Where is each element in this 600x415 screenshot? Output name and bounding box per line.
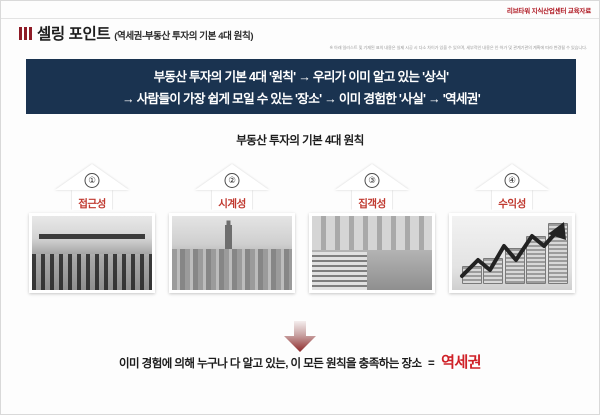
principle-label: 집객성 (358, 196, 385, 211)
principle-column-2: ② 시계성 (169, 164, 295, 293)
city-skyline-photo (169, 213, 295, 293)
conclusion-line: 이미 경험에 의해 누구나 다 알고 있는, 이 모든 원칙을 충족하는 장소 … (1, 351, 599, 372)
photo-image (452, 216, 572, 290)
principle-label: 수익성 (498, 196, 525, 211)
page-title-main: 셀링 포인트 (37, 22, 110, 44)
principle-number: ② (225, 173, 240, 188)
arrow-up-icon: ③ 집객성 (335, 164, 409, 210)
photo-image (312, 216, 432, 290)
three-bars-icon (19, 27, 32, 40)
arrow-down-icon (283, 321, 317, 353)
conclusion-equals: = (428, 358, 435, 370)
principle-column-1: ① 접근성 (29, 164, 155, 293)
header-divider (1, 18, 599, 19)
principles-row: ① 접근성 ② 시계성 ③ 집객성 (29, 164, 575, 293)
conclusion-highlight: 역세권 (441, 354, 481, 371)
principle-number: ④ (505, 173, 520, 188)
slide-root: 리브타워 지식산업센터 교육자료 셀링 포인트 (역세권-부동산 투자의 기본 … (0, 0, 600, 415)
arrow-up-icon: ① 접근성 (55, 164, 129, 210)
arrow-up-icon: ② 시계성 (195, 164, 269, 210)
coin-growth-photo (449, 213, 575, 293)
section-title: 부동산 투자의 기본 4대 원칙 (1, 132, 599, 148)
station-concourse-photo (29, 213, 155, 293)
principle-column-3: ③ 집객성 (309, 164, 435, 293)
principle-number: ③ (365, 173, 380, 188)
principle-label: 접근성 (78, 196, 105, 211)
banner-line-1: 부동산 투자의 기본 4대 '원칙' → 우리가 이미 알고 있는 '상식' (154, 66, 449, 85)
photo-image (32, 216, 152, 290)
urban-plaza-photo (309, 213, 435, 293)
conclusion-text: 이미 경험에 의해 누구나 다 알고 있는, 이 모든 원칙을 충족하는 장소 (119, 358, 422, 370)
page-title-subtitle: (역세권-부동산 투자의 기본 4대 원칙) (114, 28, 253, 42)
banner-line-2: → 사람들이 가장 쉽게 모일 수 있는 '장소' → 이미 경험한 '사실' … (122, 88, 480, 107)
summary-banner: 부동산 투자의 기본 4대 '원칙' → 우리가 이미 알고 있는 '상식' →… (26, 59, 576, 114)
brand-note: 리브타워 지식산업센터 교육자료 (507, 5, 591, 15)
principle-label: 시계성 (218, 196, 245, 211)
principle-number: ① (85, 173, 100, 188)
photo-image (172, 216, 292, 290)
arrow-up-icon: ④ 수익성 (475, 164, 549, 210)
page-title: 셀링 포인트 (역세권-부동산 투자의 기본 4대 원칙) (19, 22, 253, 44)
principle-column-4: ④ 수익성 (449, 164, 575, 293)
disclaimer-note: ※ 아래 일러스트 및 기재된 표의 내용은 실제 시공 시 다소 차이가 있을… (329, 45, 587, 51)
growth-arrow-icon (452, 216, 572, 290)
